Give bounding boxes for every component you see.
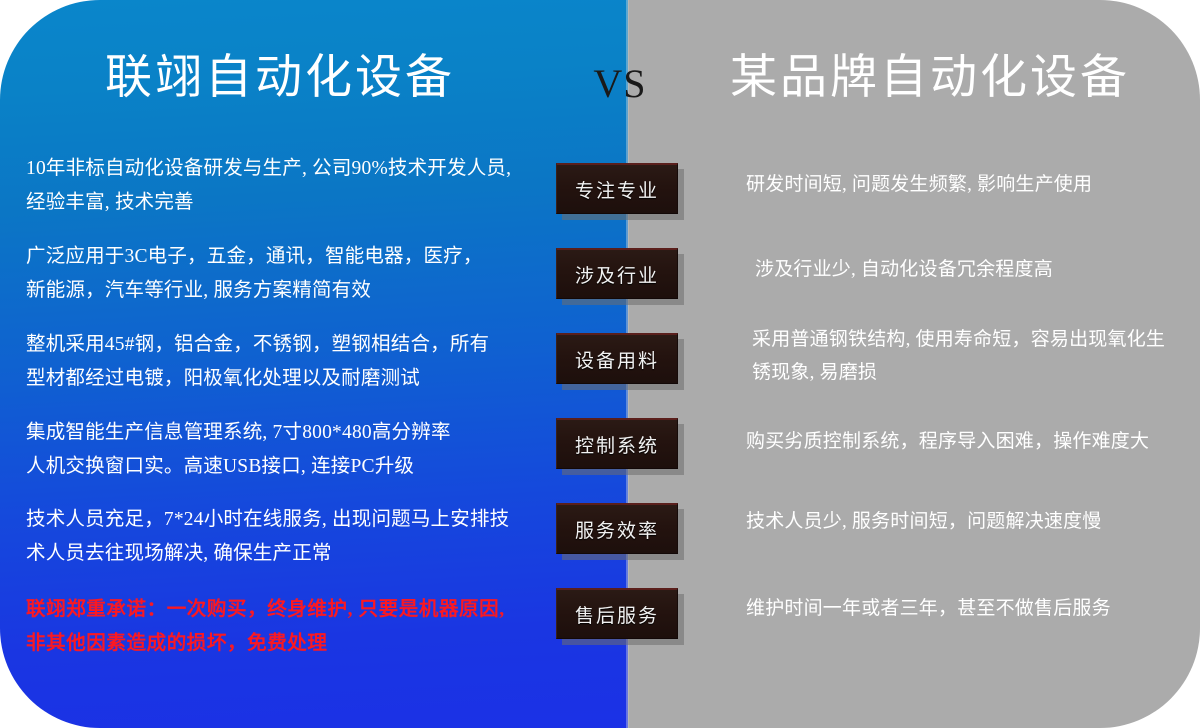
left-item-line: 新能源，汽车等行业, 服务方案精简有效 — [26, 274, 531, 308]
right-company-title: 某品牌自动化设备 — [680, 50, 1180, 106]
category-chip-label: 服务效率 — [575, 516, 659, 543]
right-item-line: 锈现象, 易磨损 — [752, 356, 1192, 389]
category-chip-label: 控制系统 — [575, 431, 659, 458]
right-list-item: 研发时间短, 问题发生频繁, 影响生产使用 — [746, 168, 1186, 201]
left-advantages-list: 10年非标自动化设备研发与生产, 公司90%技术开发人员, 经验丰富, 技术完善… — [26, 152, 531, 661]
promise-line: 联翊郑重承诺：一次购买，终身维护, 只要是机器原因, — [26, 593, 531, 627]
category-chip-focus[interactable]: 专注专业 — [556, 163, 678, 214]
left-item-line: 人机交换窗口实。高速USB接口, 连接PC升级 — [26, 450, 531, 484]
category-chip-label: 售后服务 — [575, 601, 659, 628]
category-chip-label: 涉及行业 — [575, 261, 659, 288]
category-chip-label: 设备用料 — [575, 346, 659, 373]
left-item-line: 术人员去往现场解决, 确保生产正常 — [26, 537, 531, 571]
right-item-line: 购买劣质控制系统，程序导入困难，操作难度大 — [746, 425, 1186, 458]
left-list-item: 10年非标自动化设备研发与生产, 公司90%技术开发人员, 经验丰富, 技术完善 — [26, 152, 531, 220]
left-item-line: 技术人员充足，7*24小时在线服务, 出现问题马上安排技 — [26, 503, 531, 537]
category-chip-industries[interactable]: 涉及行业 — [556, 248, 678, 299]
comparison-slide: 联翊自动化设备 VS 某品牌自动化设备 10年非标自动化设备研发与生产, 公司9… — [0, 0, 1200, 728]
right-item-line: 研发时间短, 问题发生频繁, 影响生产使用 — [746, 168, 1186, 201]
category-chip-control-system[interactable]: 控制系统 — [556, 418, 678, 469]
left-list-item: 整机采用45#钢，铝合金，不锈钢，塑钢相结合，所有 型材都经过电镀，阳极氧化处理… — [26, 328, 531, 396]
category-chip-service-efficiency[interactable]: 服务效率 — [556, 503, 678, 554]
left-list-item-promise: 联翊郑重承诺：一次购买，终身维护, 只要是机器原因, 非其他因素造成的损坏，免费… — [26, 593, 531, 661]
versus-label: VS — [560, 60, 680, 107]
category-chip-after-sales[interactable]: 售后服务 — [556, 588, 678, 639]
left-item-line: 整机采用45#钢，铝合金，不锈钢，塑钢相结合，所有 — [26, 328, 531, 362]
category-chip-materials[interactable]: 设备用料 — [556, 333, 678, 384]
left-company-title: 联翊自动化设备 — [0, 50, 560, 106]
left-item-line: 广泛应用于3C电子，五金，通讯，智能电器，医疗， — [26, 240, 531, 274]
left-list-item: 集成智能生产信息管理系统, 7寸800*480高分辨率 人机交换窗口实。高速US… — [26, 416, 531, 484]
promise-line: 非其他因素造成的损坏，免费处理 — [26, 627, 531, 661]
category-chip-label: 专注专业 — [575, 176, 659, 203]
left-list-item: 技术人员充足，7*24小时在线服务, 出现问题马上安排技 术人员去往现场解决, … — [26, 503, 531, 571]
right-list-item: 采用普通钢铁结构, 使用寿命短，容易出现氧化生 锈现象, 易磨损 — [752, 323, 1192, 389]
right-item-line: 涉及行业少, 自动化设备冗余程度高 — [755, 253, 1195, 286]
left-item-line: 经验丰富, 技术完善 — [26, 186, 531, 220]
left-item-line: 10年非标自动化设备研发与生产, 公司90%技术开发人员, — [26, 152, 531, 186]
right-item-line: 技术人员少, 服务时间短，问题解决速度慢 — [746, 505, 1186, 538]
right-list-item: 涉及行业少, 自动化设备冗余程度高 — [755, 253, 1195, 286]
left-item-line: 集成智能生产信息管理系统, 7寸800*480高分辨率 — [26, 416, 531, 450]
right-list-item: 技术人员少, 服务时间短，问题解决速度慢 — [746, 505, 1186, 538]
right-item-line: 采用普通钢铁结构, 使用寿命短，容易出现氧化生 — [752, 323, 1192, 356]
left-list-item: 广泛应用于3C电子，五金，通讯，智能电器，医疗， 新能源，汽车等行业, 服务方案… — [26, 240, 531, 308]
right-list-item: 维护时间一年或者三年，甚至不做售后服务 — [746, 592, 1186, 625]
right-list-item: 购买劣质控制系统，程序导入困难，操作难度大 — [746, 425, 1186, 458]
right-item-line: 维护时间一年或者三年，甚至不做售后服务 — [746, 592, 1186, 625]
left-item-line: 型材都经过电镀，阳极氧化处理以及耐磨测试 — [26, 362, 531, 396]
